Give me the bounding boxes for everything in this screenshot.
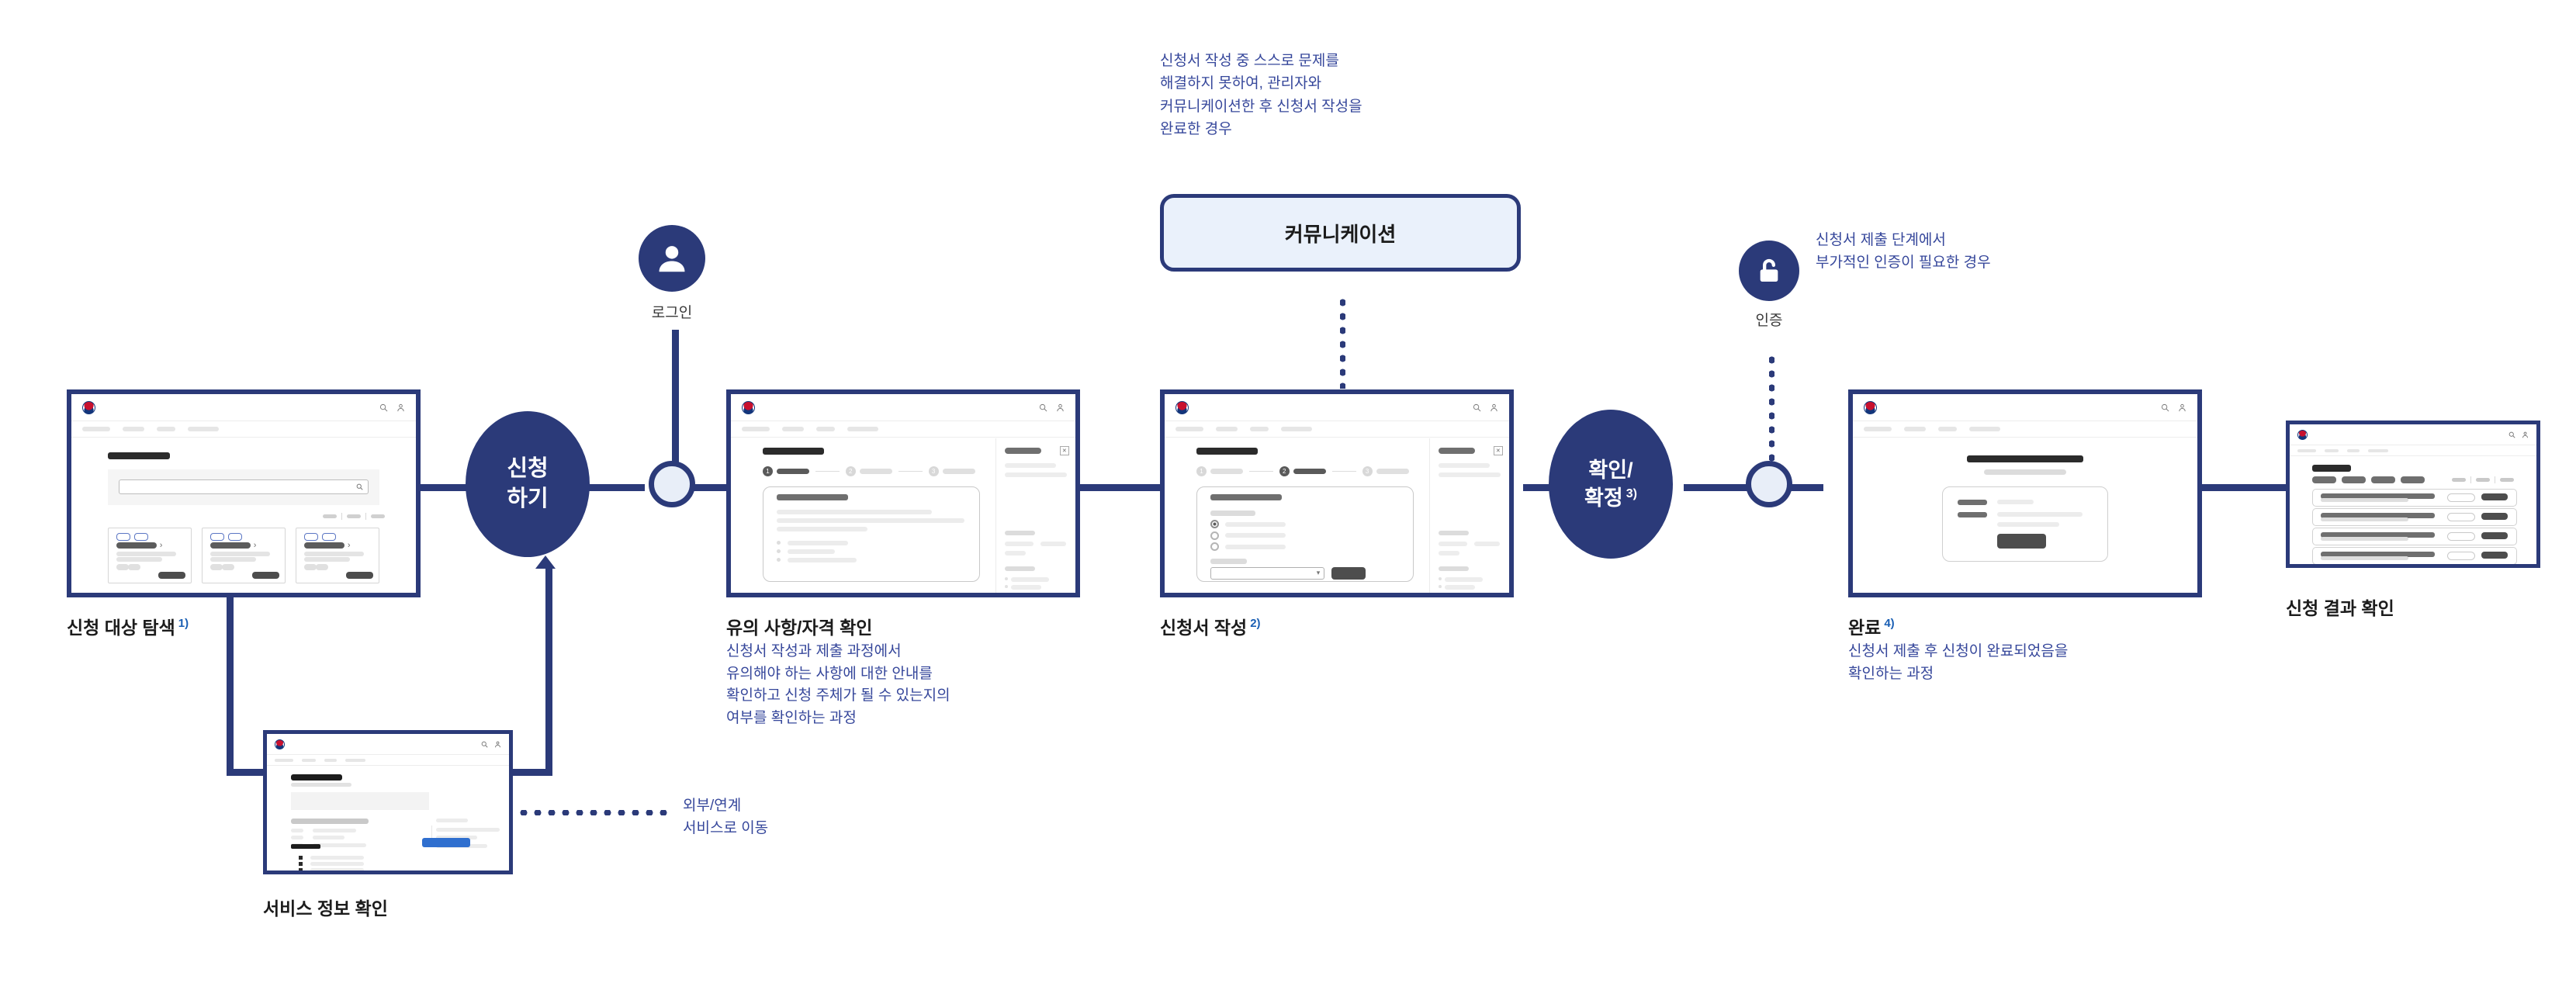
connector-up-to-apply [545, 566, 552, 772]
mock-header [267, 734, 509, 754]
completion-heading-placeholder [1967, 455, 2084, 462]
filter-tabs[interactable] [323, 513, 385, 520]
node-login-label: 로그인 [639, 301, 705, 322]
step-indicator: 1 2 3 [1196, 466, 1409, 476]
note-communication: 신청서 작성 중 스스로 문제를 해결하지 못하여, 관리자와 커뮤니케이션한 … [1160, 50, 1517, 141]
service-subtext-placeholder [291, 783, 351, 787]
result-card[interactable]: › [296, 528, 380, 583]
screen-service-info[interactable] [263, 730, 513, 874]
search-icon[interactable] [379, 403, 388, 412]
completion-summary-card [1942, 486, 2107, 562]
junction-auth [1746, 461, 1792, 507]
close-icon[interactable]: ✕ [1060, 446, 1069, 455]
connector-apply-to-junction1 [586, 484, 645, 491]
mock-body [267, 766, 509, 871]
result-row[interactable] [2312, 489, 2517, 507]
radio-option[interactable] [1210, 542, 1219, 551]
node-confirm[interactable]: 확인/ 확정3) [1549, 410, 1673, 559]
search-icon[interactable] [1039, 403, 1047, 412]
user-icon [654, 241, 690, 276]
result-row[interactable] [2312, 508, 2517, 526]
user-icon[interactable] [2522, 431, 2529, 438]
flow-diagram-canvas: › › › 신청 대상 탐색1) 신청 [0, 0, 2576, 983]
submit-button[interactable] [1331, 567, 1366, 580]
mock-header [1165, 394, 1509, 421]
caption-text: 신청 결과 확인 [2286, 598, 2394, 618]
application-form-panel[interactable]: ▾ [1196, 486, 1414, 582]
node-communication[interactable]: 커뮤니케이션 [1160, 194, 1521, 272]
mock-body: 1 2 3 ▾ [1165, 438, 1509, 593]
result-row[interactable] [2312, 547, 2517, 565]
service-sub-heading [291, 844, 320, 849]
unlock-icon [1754, 255, 1785, 286]
user-icon[interactable] [2178, 403, 2186, 412]
step-number: 1 [763, 466, 773, 476]
mock-navbar[interactable] [1165, 421, 1509, 438]
result-card-list: › › › [108, 528, 380, 583]
caption-check-result: 신청 결과 확인 [2286, 594, 2398, 620]
user-icon[interactable] [1490, 403, 1498, 412]
screen-search-target[interactable]: › › › [67, 389, 421, 597]
node-auth-icon-circle[interactable] [1739, 241, 1799, 301]
mock-header [1853, 394, 2197, 421]
header-icon-group [379, 403, 405, 412]
connector-screen2-to-screen3 [1079, 484, 1160, 491]
screen-check-result[interactable] [2286, 421, 2540, 568]
korea-gov-logo-icon [1175, 401, 1189, 414]
node-confirm-line1: 확인/ [1584, 456, 1637, 484]
dotted-link-external-service [517, 810, 672, 815]
arrow-into-apply-ellipse [535, 556, 556, 569]
node-confirm-superscript: 3) [1626, 487, 1637, 500]
junction-login [649, 461, 695, 507]
note-external-service: 외부/연계 서비스로 이동 [683, 794, 916, 840]
caption-text: 유의 사항/자격 확인 [726, 618, 872, 638]
page-heading-placeholder [1196, 448, 1258, 455]
results-view-tabs[interactable] [2452, 476, 2514, 483]
caption-notice-eligibility: 유의 사항/자격 확인 [726, 613, 875, 639]
caption-complete: 완료4) [1848, 613, 1895, 639]
korea-gov-logo-icon [275, 739, 285, 749]
select-dropdown[interactable]: ▾ [1210, 567, 1325, 580]
mock-body: › › › [71, 438, 416, 593]
result-card[interactable]: › [108, 528, 192, 583]
step-number: 3 [1362, 466, 1373, 476]
caption-service-info: 서비스 정보 확인 [263, 894, 391, 920]
node-apply-line1: 신청 [507, 454, 548, 484]
korea-gov-logo-icon [1864, 401, 1877, 414]
caption-text: 신청 대상 탐색 [67, 618, 175, 638]
search-banner [108, 469, 380, 505]
external-link-button[interactable] [422, 838, 470, 847]
page-heading-placeholder [763, 448, 824, 455]
user-icon[interactable] [494, 741, 501, 748]
node-login-icon-circle[interactable] [639, 225, 705, 292]
node-confirm-line2: 확정 [1584, 486, 1623, 510]
connector-screen1-down [227, 597, 234, 772]
connector-login-stem [672, 330, 679, 469]
step-number: 2 [1279, 466, 1290, 476]
search-input[interactable] [119, 479, 369, 494]
search-icon[interactable] [481, 741, 488, 748]
dotted-link-communication [1340, 296, 1345, 389]
mock-navbar[interactable] [1853, 421, 2197, 438]
page-heading-placeholder [108, 452, 170, 459]
caption-text: 서비스 정보 확인 [263, 898, 388, 919]
caption-superscript: 4) [1884, 617, 1894, 630]
node-apply-line2: 하기 [507, 484, 548, 514]
mock-body [2290, 456, 2536, 564]
mock-body [1853, 438, 2197, 593]
header-icon-group [1039, 403, 1065, 412]
step-number: 1 [1196, 466, 1207, 476]
primary-button[interactable] [1997, 534, 2046, 549]
side-rail: ✕ [995, 438, 1075, 593]
notice-panel [763, 486, 980, 582]
result-card[interactable]: › [202, 528, 286, 583]
caption-text: 신청서 작성 [1160, 618, 1247, 638]
user-icon[interactable] [396, 403, 405, 412]
results-heading-placeholder [2312, 465, 2352, 472]
description-complete: 신청서 제출 후 신청이 완료되었음을 확인하는 과정 [1848, 641, 2252, 685]
node-communication-label: 커뮤니케이션 [1285, 219, 1397, 247]
mock-body: 1 2 3 [731, 438, 1075, 593]
search-icon[interactable] [1473, 403, 1481, 412]
caption-write-application: 신청서 작성2) [1160, 613, 1261, 639]
caption-superscript: 2) [1250, 617, 1260, 630]
screen-notice-eligibility[interactable]: 1 2 3 [726, 389, 1080, 597]
note-auth: 신청서 제출 단계에서 부가적인 인증이 필요한 경우 [1816, 229, 2141, 275]
radio-selected[interactable] [1210, 520, 1219, 528]
mock-header [731, 394, 1075, 421]
header-icon-group [2508, 431, 2529, 438]
result-row[interactable] [2312, 528, 2517, 545]
mock-header [2290, 424, 2536, 445]
header-icon-group [481, 741, 501, 748]
description-notice-eligibility: 신청서 작성과 제출 과정에서 유의해야 하는 사항에 대한 안내를 확인하고 … [726, 641, 1091, 729]
radio-option[interactable] [1210, 531, 1219, 540]
mock-navbar[interactable] [267, 754, 509, 766]
connector-screen1-to-apply [419, 484, 470, 491]
user-icon[interactable] [1056, 403, 1065, 412]
step-number: 3 [929, 466, 939, 476]
screen-write-application[interactable]: 1 2 3 ▾ [1160, 389, 1514, 597]
dotted-link-auth [1769, 353, 1774, 462]
mock-header [71, 394, 416, 421]
content-column: 1 2 3 ▾ [1165, 438, 1430, 593]
caption-search-target: 신청 대상 탐색1) [67, 613, 189, 639]
caption-superscript: 1) [178, 617, 189, 630]
search-icon[interactable] [2161, 403, 2169, 412]
header-icon-group [2161, 403, 2186, 412]
korea-gov-logo-icon [82, 401, 95, 414]
node-auth-label: 인증 [1739, 309, 1799, 330]
service-hero-block [291, 792, 429, 810]
step-number: 2 [846, 466, 856, 476]
mock-navbar[interactable] [2290, 445, 2536, 456]
search-icon[interactable] [2508, 431, 2515, 438]
step-indicator: 1 2 3 [763, 466, 975, 476]
korea-gov-logo-icon [742, 401, 755, 414]
caption-text: 완료 [1848, 618, 1881, 638]
close-icon[interactable]: ✕ [1494, 446, 1503, 455]
korea-gov-logo-icon [2297, 430, 2308, 440]
service-heading-placeholder [291, 774, 342, 781]
side-rail: ✕ [1429, 438, 1509, 593]
completion-subtext-placeholder [1984, 469, 2067, 475]
mock-navbar[interactable] [731, 421, 1075, 438]
screen-complete[interactable] [1848, 389, 2202, 597]
service-section-heading [291, 819, 369, 824]
search-icon [356, 483, 363, 490]
results-filter-chips[interactable] [2312, 476, 2425, 483]
header-icon-group [1473, 403, 1498, 412]
content-column: 1 2 3 [731, 438, 996, 593]
mock-navbar[interactable] [71, 421, 416, 438]
node-apply[interactable]: 신청 하기 [466, 411, 590, 557]
